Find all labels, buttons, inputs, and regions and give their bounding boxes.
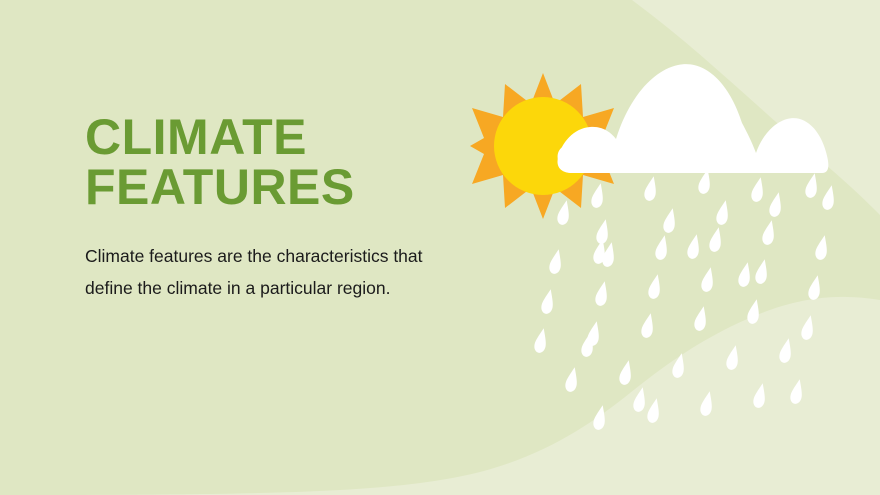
- rain-drop-icon: [654, 234, 670, 261]
- blob-bottom-right-icon: [0, 297, 880, 495]
- rain-drop-icon: [594, 280, 610, 307]
- rain-drop-icon: [595, 218, 611, 245]
- rain-drop-icon: [671, 352, 687, 379]
- rain-drop-icon: [814, 234, 830, 261]
- rain-drop-icon: [601, 241, 617, 268]
- rain-drop-icon: [737, 261, 753, 288]
- rain-drop-icon: [804, 172, 820, 199]
- rain-drop-icon: [697, 168, 713, 195]
- rain-drops: [533, 168, 837, 431]
- rain-drop-icon: [789, 378, 805, 405]
- rain-drop-icon: [548, 248, 564, 275]
- rain-drop-icon: [750, 176, 766, 203]
- rain-drop-icon: [592, 404, 608, 431]
- rain-drop-icon: [800, 314, 816, 341]
- rain-drop-icon: [821, 184, 837, 211]
- rain-drop-icon: [556, 199, 572, 226]
- rain-drop-icon: [715, 199, 731, 226]
- rain-drop-icon: [590, 182, 606, 209]
- cloud-icon: [558, 64, 829, 173]
- rain-drop-icon: [632, 386, 648, 413]
- rain-drop-icon: [700, 266, 716, 293]
- page-title-line-2: FEATURES: [85, 162, 445, 212]
- sun-icon: [470, 73, 616, 219]
- rain-drop-icon: [586, 320, 602, 347]
- page-title: CLIMATE FEATURES: [85, 112, 445, 212]
- rain-drop-icon: [647, 273, 663, 300]
- rain-drop-icon: [693, 305, 709, 332]
- rain-drop-icon: [533, 327, 549, 354]
- blob-top-right-icon: [632, 0, 880, 215]
- rain-drop-icon: [640, 312, 656, 339]
- page-title-line-1: CLIMATE: [85, 112, 445, 162]
- rain-drop-icon: [754, 258, 770, 285]
- slide-text-block: CLIMATE FEATURES Climate features are th…: [85, 112, 445, 305]
- rain-drop-icon: [746, 298, 762, 325]
- rain-drop-icon: [646, 397, 662, 424]
- rain-drop-icon: [699, 390, 715, 417]
- rain-drop-icon: [580, 331, 596, 358]
- rain-drop-icon: [618, 359, 634, 386]
- rain-drop-icon: [564, 366, 580, 393]
- rain-drop-icon: [592, 238, 608, 265]
- slide-canvas: CLIMATE FEATURES Climate features are th…: [0, 0, 880, 495]
- rain-drop-icon: [778, 337, 794, 364]
- rain-drop-icon: [643, 175, 659, 202]
- rain-drop-icon: [708, 226, 724, 253]
- rain-drop-icon: [761, 219, 777, 246]
- rain-drop-icon: [768, 191, 784, 218]
- rain-drop-icon: [540, 288, 556, 315]
- rain-drop-icon: [725, 344, 741, 371]
- rain-drop-icon: [807, 274, 823, 301]
- rain-drop-icon: [686, 233, 702, 260]
- page-description: Climate features are the characteristics…: [85, 212, 430, 305]
- rain-drop-icon: [662, 207, 678, 234]
- rain-drop-icon: [752, 382, 768, 409]
